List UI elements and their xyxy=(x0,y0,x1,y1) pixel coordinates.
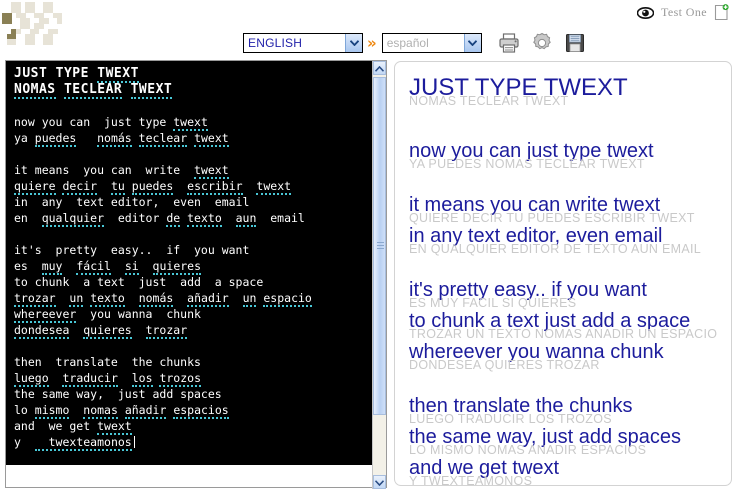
scroll-up-button[interactable] xyxy=(373,61,386,75)
account-bar: Test One xyxy=(637,2,729,22)
chunk-plain: it means you can write xyxy=(14,163,194,177)
chunk-plain: the same way, just add spaces xyxy=(14,387,222,401)
source-language-select[interactable]: ENGLISH xyxy=(243,33,363,53)
chunk-underlined: TWEXT xyxy=(131,82,173,99)
chunk-underlined: muy xyxy=(42,259,63,275)
chunk-plain xyxy=(69,403,83,417)
chunk-underlined: quieres xyxy=(153,259,201,275)
chunk-underlined: tu xyxy=(111,179,125,195)
chunk-underlined: añadir xyxy=(125,403,167,419)
chunk-underlined: fácil xyxy=(76,259,111,275)
editor-line xyxy=(14,98,374,114)
editor-line: it's pretty easy.. if you want xyxy=(14,242,374,258)
editor-line: whereever you wanna chunk xyxy=(14,306,374,322)
chunk-plain xyxy=(222,211,236,225)
preview-ghost-translation: DONDESEA QUIERES TROZAR xyxy=(409,358,600,372)
new-document-icon[interactable] xyxy=(714,4,729,21)
chunk-plain xyxy=(118,371,132,385)
header: Test One ENGLISH » español xyxy=(0,0,737,60)
chunk-plain: JUST TYPE xyxy=(14,66,97,81)
chunk-underlined: qualquier xyxy=(42,211,104,227)
chunk-underlined: trozos xyxy=(159,371,201,387)
chunk-plain xyxy=(229,291,243,305)
chunk-plain: ya xyxy=(14,131,35,145)
preview-line xyxy=(409,381,731,395)
chunk-underlined: trozar xyxy=(146,323,188,339)
editor-line: y twexteamonos xyxy=(14,434,374,450)
chunk-plain: it's pretty easy.. if you want xyxy=(14,243,249,257)
chunk-plain xyxy=(56,82,64,97)
chunk-plain: you wanna chunk xyxy=(76,307,201,321)
editor-line xyxy=(14,226,374,242)
editor-line: NOMAS TECLEAR TWEXT xyxy=(14,82,374,98)
editor-line: dondesea quieres trozar xyxy=(14,322,374,338)
chunk-plain: in any text editor, even email xyxy=(14,195,249,209)
editor-line: luego traducir los trozos xyxy=(14,370,374,386)
chunk-plain: then translate the chunks xyxy=(14,355,201,369)
preview-panel: JUST TYPE TWEXTNOMAS TECLEAR TWEXTnow yo… xyxy=(394,61,732,486)
chunk-plain xyxy=(173,291,187,305)
chunk-underlined: texto xyxy=(187,211,222,227)
chunk-underlined: añadir xyxy=(187,291,229,307)
chunk-underlined: TECLEAR xyxy=(64,82,122,99)
editor-line xyxy=(14,146,374,162)
preview-ghost-translation: EN QUALQUIER EDITOR DE TEXTO AUN EMAIL xyxy=(409,242,701,256)
chunk-underlined: si xyxy=(125,259,139,275)
chunk-plain: en xyxy=(14,211,42,225)
chunk-plain xyxy=(125,291,139,305)
chunk-underlined: quiere xyxy=(14,179,56,195)
editor-line: and we get twext xyxy=(14,418,374,434)
save-button[interactable] xyxy=(562,31,588,55)
chunk-underlined: un xyxy=(69,291,83,307)
editor-line: in any text editor, even email xyxy=(14,194,374,210)
chunk-plain xyxy=(173,179,187,193)
preview-line: it's pretty easy.. if you wantES MUY FAC… xyxy=(409,279,731,310)
chunk-plain: to chunk a text just add a space xyxy=(14,275,263,289)
chunk-underlined: twext xyxy=(256,179,291,195)
preview-line: to chunk a text just add a spaceTROZAR U… xyxy=(409,310,731,341)
chunk-plain xyxy=(132,323,146,337)
source-language-value: ENGLISH xyxy=(248,36,345,50)
preview-ghost-translation: QUIERE DECIR TU PUEDES ESCRIBIR TWEXT xyxy=(409,211,695,225)
chunk-underlined: dondesea xyxy=(14,323,69,339)
editor-line: to chunk a text just add a space xyxy=(14,274,374,290)
chunk-underlined: luego xyxy=(14,371,49,387)
chunk-underlined: twext xyxy=(194,163,229,179)
chunk-underlined: NOMAS xyxy=(14,82,56,99)
chunk-underlined: traducir xyxy=(62,371,117,387)
language-toolbar: ENGLISH » español xyxy=(243,30,588,56)
chunk-underlined: twext xyxy=(97,419,132,435)
chunk-underlined: teclear xyxy=(139,131,187,147)
chunk-plain xyxy=(76,131,97,145)
preview-ghost-translation: TROZAR UN TEXTO NOMAS ANADIR UN ESPACIO xyxy=(409,327,717,341)
chunk-underlined: quieres xyxy=(83,323,131,339)
chunk-plain xyxy=(62,259,76,273)
text-cursor xyxy=(134,436,135,448)
chunk-underlined: espacio xyxy=(263,291,311,307)
chunk-underlined: puedes xyxy=(35,131,77,147)
preview-ghost-translation: YA PUEDES NOMAS TECLEAR TWEXT xyxy=(409,157,645,171)
username-label: Test One xyxy=(661,5,707,20)
chunk-plain xyxy=(118,403,125,417)
editor-line: quiere decir tu puedes escribir twext xyxy=(14,178,374,194)
chunk-plain xyxy=(69,323,83,337)
editor-line: lo mismo nomas añadir espacios xyxy=(14,402,374,418)
save-icon xyxy=(565,33,585,53)
editor-line: en qualquier editor de texto aun email xyxy=(14,210,374,226)
editor-line: it means you can write twext xyxy=(14,162,374,178)
chevron-down-icon[interactable] xyxy=(464,34,481,52)
chunk-plain xyxy=(122,82,130,97)
preview-line xyxy=(409,114,731,140)
preview-line xyxy=(409,265,731,279)
chunk-underlined: espacios xyxy=(173,403,228,419)
scroll-down-button[interactable] xyxy=(373,475,386,489)
preview-line: in any text editor, even emailEN QUALQUI… xyxy=(409,225,731,265)
chunk-underlined: decir xyxy=(62,179,97,195)
chunk-underlined: twext xyxy=(194,131,229,147)
preview-line: JUST TYPE TWEXTNOMAS TECLEAR TWEXT xyxy=(409,74,731,114)
preview-ghost-translation: Y TWEXTEAMONOS xyxy=(409,474,532,486)
preview-ghost-translation: LUEGO TRADUCIR LOS TROZOS xyxy=(409,412,612,426)
chunk-underlined: puedes xyxy=(132,179,174,195)
scrollbar-grip xyxy=(377,242,384,250)
chunk-plain xyxy=(243,179,257,193)
preview-line xyxy=(409,180,731,194)
chevron-up-icon xyxy=(375,59,384,77)
settings-button[interactable] xyxy=(529,31,555,55)
editor-content[interactable]: JUST TYPE TWEXTNOMAS TECLEAR TWEXTnow yo… xyxy=(6,61,374,450)
chunk-underlined: un xyxy=(243,291,257,307)
app-logo[interactable] xyxy=(2,2,64,48)
preview-line: then translate the chunksLUEGO TRADUCIR … xyxy=(409,395,731,426)
preview-line: and we get twextY TWEXTEAMONOS xyxy=(409,457,731,486)
chunk-underlined: escribir xyxy=(187,179,242,195)
chunk-plain xyxy=(132,131,139,145)
chunk-plain: and we get xyxy=(14,419,97,433)
chunk-underlined: trozar xyxy=(14,291,56,307)
chunk-underlined: nomás xyxy=(139,291,174,307)
chunk-plain xyxy=(125,179,132,193)
preview-line: it means you can write twextQUIERE DECIR… xyxy=(409,194,731,225)
chunk-underlined: TWEXT xyxy=(97,66,139,83)
chunk-underlined: nomás xyxy=(97,131,132,147)
chunk-plain: es xyxy=(14,259,42,273)
app-root: Test One ENGLISH » español xyxy=(0,0,737,493)
target-language-select[interactable]: español xyxy=(382,33,482,53)
editor-line: trozar un texto nomás añadir un espacio xyxy=(14,290,374,306)
editor-line: JUST TYPE TWEXT xyxy=(14,66,374,82)
direction-separator: » xyxy=(367,36,377,51)
chunk-plain: email xyxy=(256,211,304,225)
chunk-underlined: mismo xyxy=(35,403,70,419)
print-button[interactable] xyxy=(496,31,522,55)
text-editor-panel[interactable]: JUST TYPE TWEXTNOMAS TECLEAR TWEXTnow yo… xyxy=(5,60,387,488)
chunk-plain xyxy=(139,259,153,273)
editor-line: es muy fácil si quieres xyxy=(14,258,374,274)
chunk-plain: y xyxy=(14,435,35,449)
chunk-underlined: twexteamonos xyxy=(35,435,132,451)
preview-ghost-translation: ES MUY FACIL SI QUIERES xyxy=(409,296,576,310)
chunk-plain xyxy=(56,291,70,305)
chunk-underlined: los xyxy=(132,371,153,387)
preview-ghost-translation: NOMAS TECLEAR TWEXT xyxy=(409,94,568,108)
chunk-underlined: aun xyxy=(236,211,257,227)
eye-icon[interactable] xyxy=(637,6,654,18)
scrollbar-thumb[interactable] xyxy=(373,77,386,415)
chunk-underlined: twext xyxy=(173,115,208,131)
chunk-plain: now you can just type xyxy=(14,115,173,129)
editor-line: now you can just type twext xyxy=(14,114,374,130)
preview-line: the same way, just add spacesLO MISMO NO… xyxy=(409,426,731,457)
chunk-underlined: de xyxy=(166,211,180,227)
editor-line xyxy=(14,338,374,354)
printer-icon xyxy=(498,32,520,54)
gear-icon xyxy=(531,32,553,54)
chunk-plain xyxy=(111,259,125,273)
editor-line: then translate the chunks xyxy=(14,354,374,370)
chunk-plain: lo xyxy=(14,403,35,417)
chunk-plain: editor xyxy=(104,211,166,225)
target-language-value: español xyxy=(387,36,464,50)
chunk-underlined: whereever xyxy=(14,307,76,323)
chunk-plain xyxy=(97,179,111,193)
editor-line: the same way, just add spaces xyxy=(14,386,374,402)
chunk-plain xyxy=(49,371,63,385)
preview-line: whereever you wanna chunkDONDESEA QUIERE… xyxy=(409,341,731,381)
text-editor-surface[interactable]: JUST TYPE TWEXTNOMAS TECLEAR TWEXTnow yo… xyxy=(6,61,374,465)
chevron-down-icon[interactable] xyxy=(345,34,362,52)
chunk-underlined: nomas xyxy=(83,403,118,419)
chevron-down-icon xyxy=(375,473,384,491)
preview-ghost-translation: LO MISMO NOMAS ANADIR ESPACIOS xyxy=(409,443,646,457)
preview-content: JUST TYPE TWEXTNOMAS TECLEAR TWEXTnow yo… xyxy=(395,62,731,486)
editor-scrollbar[interactable] xyxy=(372,61,386,489)
preview-line: now you can just type twextYA PUEDES NOM… xyxy=(409,140,731,180)
chunk-underlined: texto xyxy=(90,291,125,307)
editor-line: ya puedes nomás teclear twext xyxy=(14,130,374,146)
